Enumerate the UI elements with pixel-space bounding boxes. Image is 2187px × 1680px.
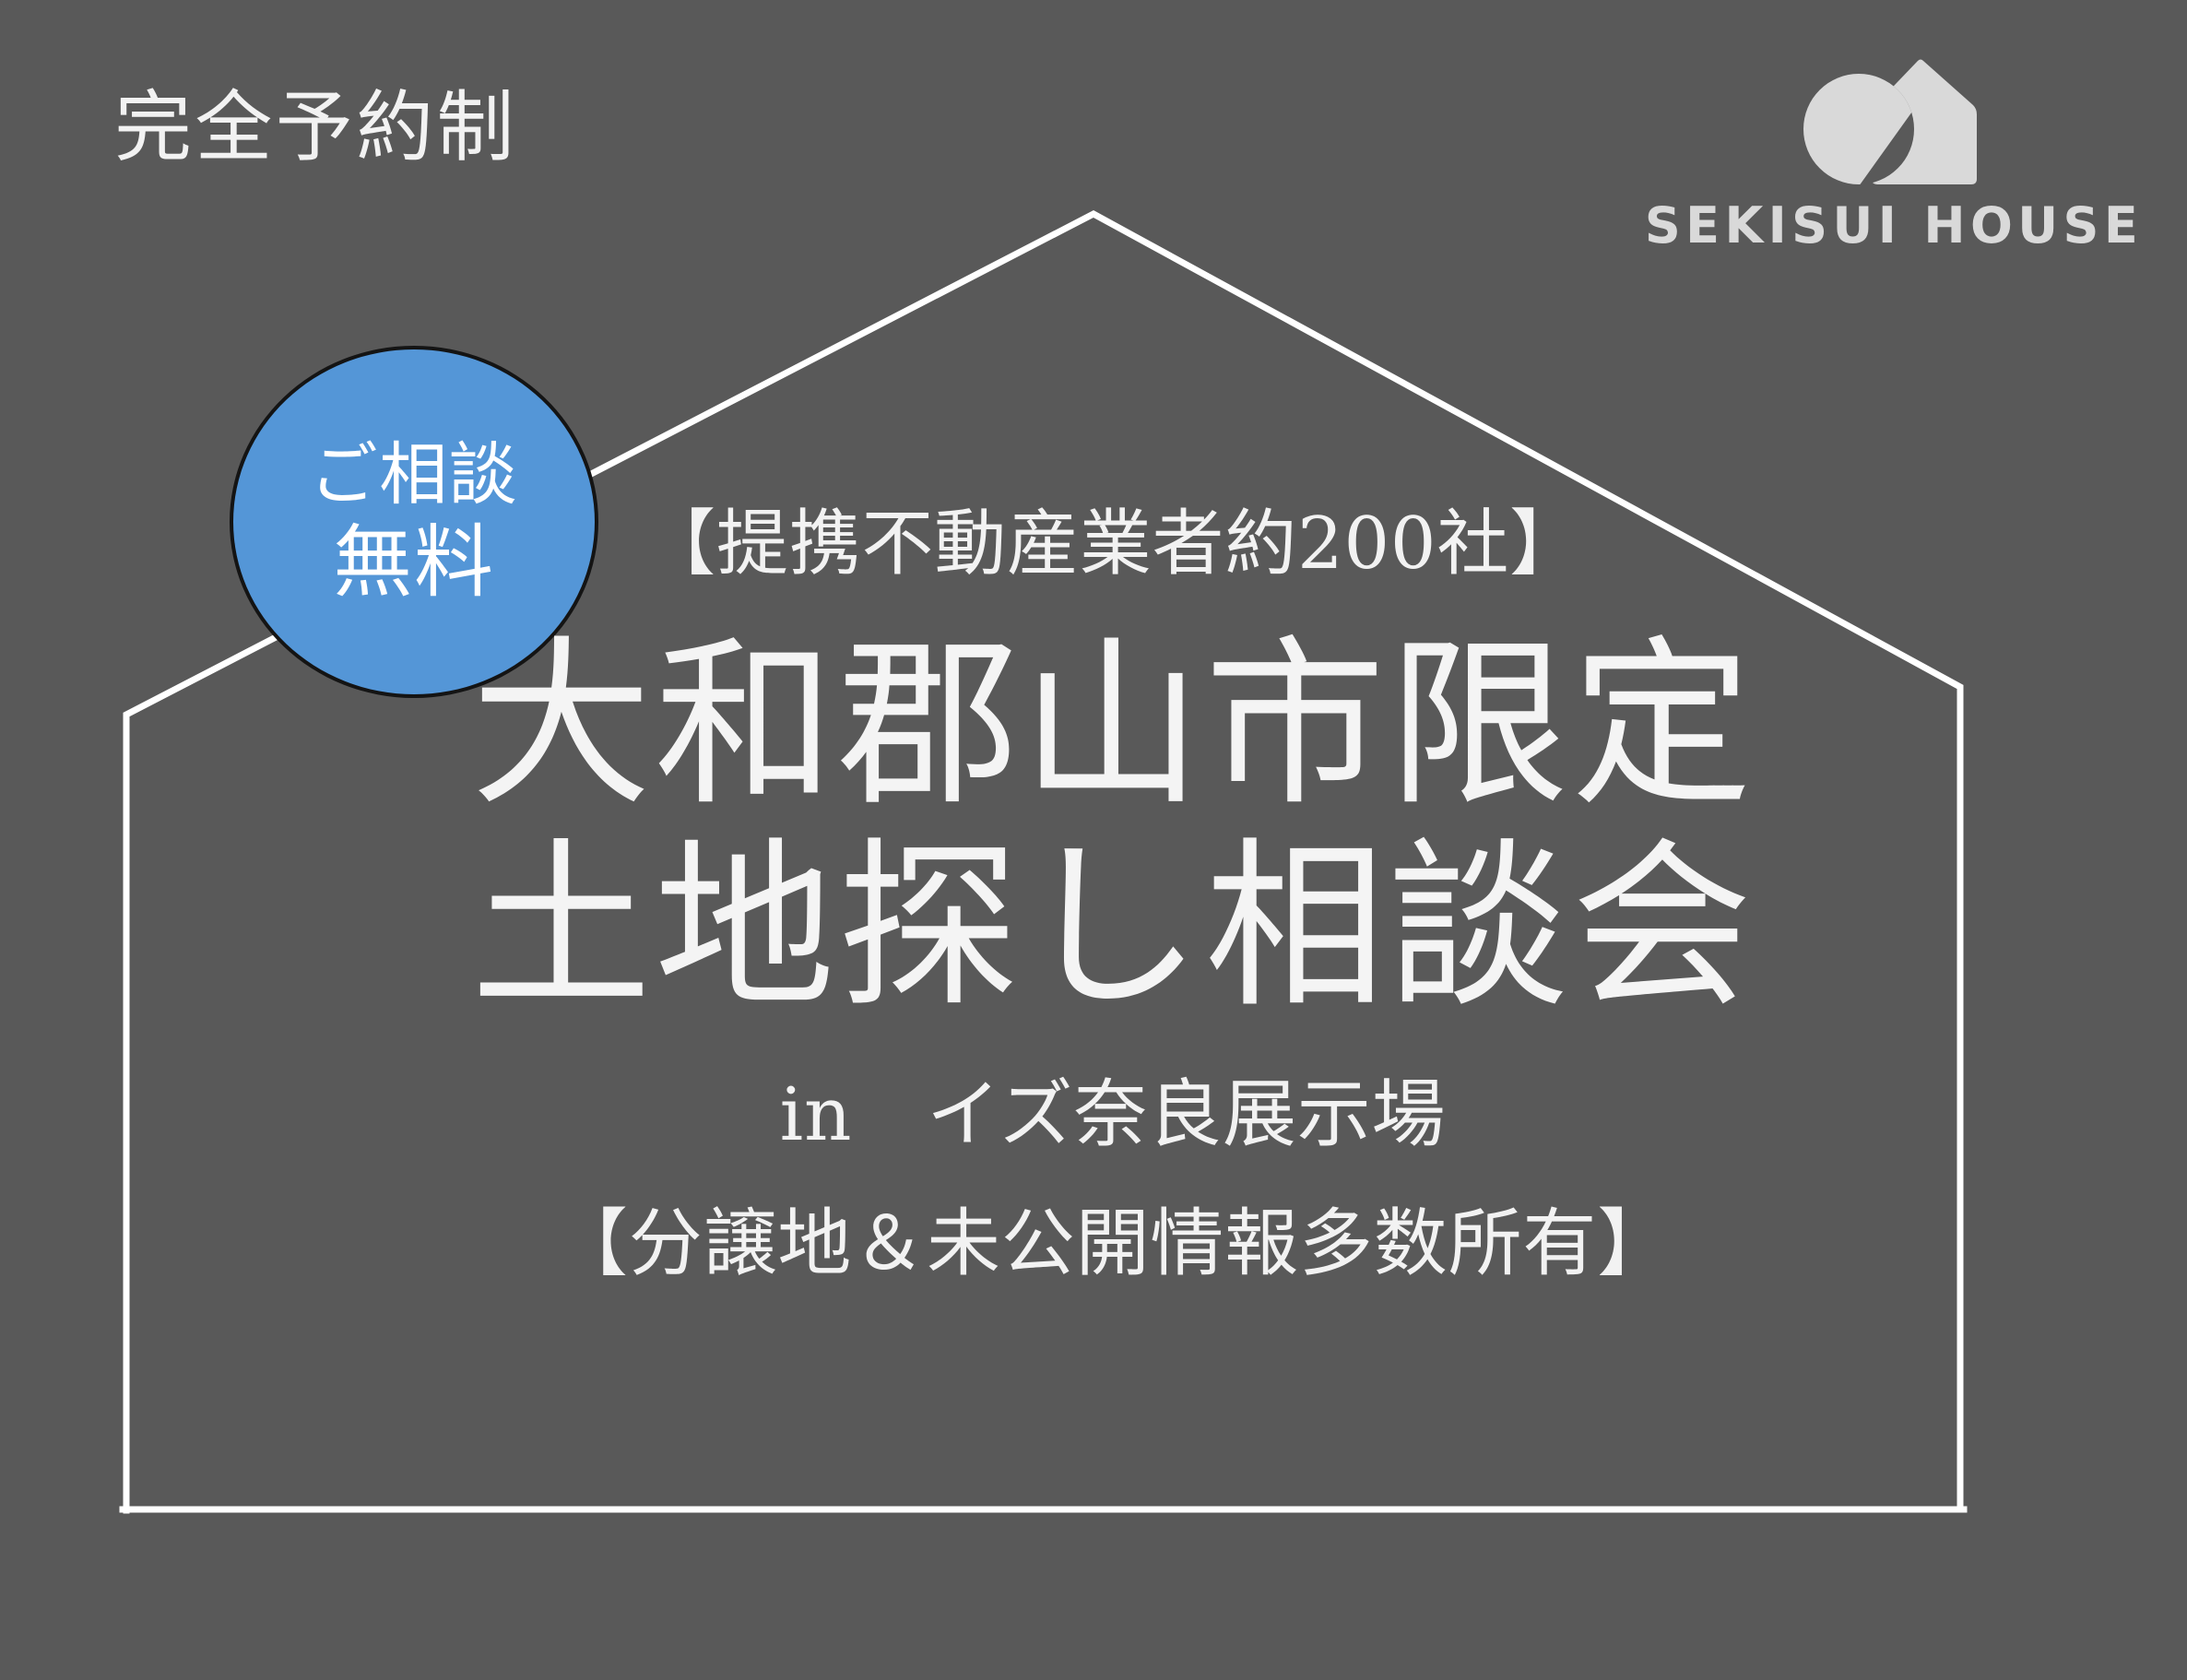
headline-line-1: 大和郡山市限定 [188, 625, 2038, 828]
badge-line-1: ご相談 [310, 439, 518, 511]
reservation-note: 完全予約制 [114, 89, 517, 166]
partner-agencies-tagline: 【提携不動産業者約200社】 [188, 505, 2038, 585]
sekisui-house-logo: SEKISUI HOUSE [1682, 48, 2106, 251]
page-title: 大和郡山市限定 土地探し相談会 [188, 625, 2038, 1030]
headline-line-2: 土地探し相談会 [188, 827, 2038, 1030]
sekisui-house-mark-icon [1802, 48, 1986, 186]
logo-wordmark: SEKISUI HOUSE [1645, 201, 2143, 251]
venue-label: in イズ奈良展示場 [188, 1074, 2038, 1155]
poster-content: 【提携不動産業者約200社】 大和郡山市限定 土地探し相談会 in イズ奈良展示… [148, 505, 2038, 1284]
poster: 完全予約制 SEKISUI HOUSE [0, 0, 2187, 1680]
listings-tagline: 【分譲地＆未公開情報多数所有】 [188, 1203, 2038, 1284]
